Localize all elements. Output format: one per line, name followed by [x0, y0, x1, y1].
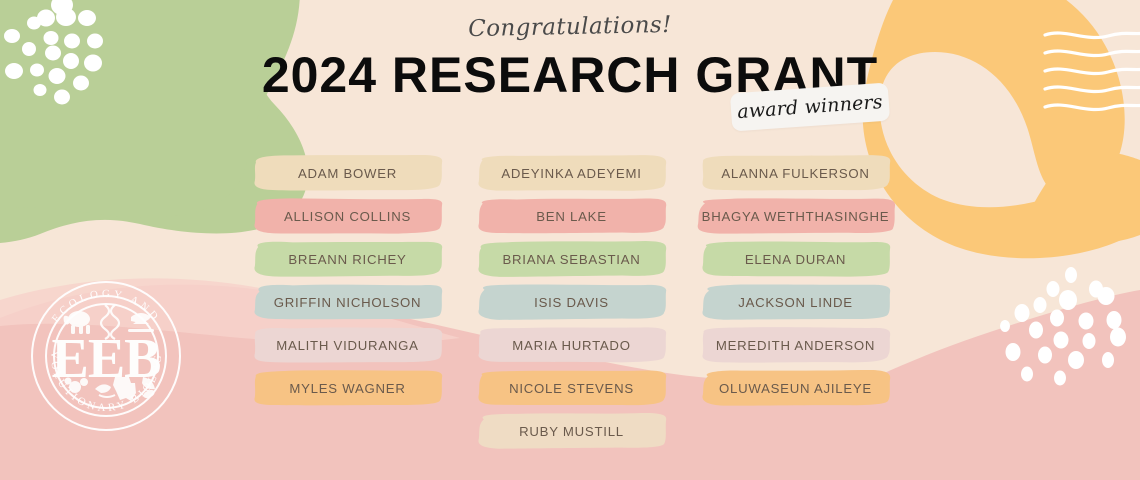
winner-pill: BREANN RICHEY [250, 241, 445, 277]
winner-name: BREANN RICHEY [288, 252, 406, 267]
winner-pill: NICOLE STEVENS [474, 370, 669, 406]
winner-name: ALLISON COLLINS [284, 209, 411, 224]
winner-column-2: ADEYINKA ADEYEMIBEN LAKEBRIANA SEBASTIAN… [474, 155, 669, 456]
winner-column-3: ALANNA FULKERSONBHAGYA WETHTHASINGHEELEN… [698, 155, 893, 413]
winner-name: OLUWASEUN AJILEYE [719, 381, 872, 396]
logo-center-text: EEB [51, 328, 160, 390]
winner-pill: JACKSON LINDE [698, 284, 893, 320]
winner-pill: MARIA HURTADO [474, 327, 669, 363]
winner-pill: RUBY MUSTILL [474, 413, 669, 449]
winner-column-1: ADAM BOWERALLISON COLLINSBREANN RICHEYGR… [250, 155, 445, 413]
winner-name: BHAGYA WETHTHASINGHE [702, 209, 890, 224]
winner-name: ISIS DAVIS [534, 295, 609, 310]
winner-name: MALITH VIDURANGA [276, 338, 418, 353]
winner-name: GRIFFIN NICHOLSON [274, 295, 422, 310]
winner-pill: ADEYINKA ADEYEMI [474, 155, 669, 191]
winner-name: BRIANA SEBASTIAN [502, 252, 640, 267]
winner-name: ALANNA FULKERSON [721, 166, 869, 181]
winner-pill: MYLES WAGNER [250, 370, 445, 406]
winner-name: JACKSON LINDE [738, 295, 853, 310]
winner-pill: GRIFFIN NICHOLSON [250, 284, 445, 320]
winner-pill: BEN LAKE [474, 198, 669, 234]
winner-name: RUBY MUSTILL [519, 424, 624, 439]
winner-name: BEN LAKE [536, 209, 607, 224]
winner-pill: MEREDITH ANDERSON [698, 327, 893, 363]
winner-pill: MALITH VIDURANGA [250, 327, 445, 363]
winner-pill: ALLISON COLLINS [250, 198, 445, 234]
winner-name: ELENA DURAN [745, 252, 846, 267]
winner-pill: ADAM BOWER [250, 155, 445, 191]
winner-name: ADEYINKA ADEYEMI [501, 166, 641, 181]
winner-name: MEREDITH ANDERSON [716, 338, 875, 353]
winner-name: MARIA HURTADO [512, 338, 630, 353]
winner-pill: ISIS DAVIS [474, 284, 669, 320]
winner-pill: BRIANA SEBASTIAN [474, 241, 669, 277]
poster-canvas: Congratulations! 2024 RESEARCH GRANT awa… [0, 0, 1140, 480]
winner-pill: ELENA DURAN [698, 241, 893, 277]
eeb-logo: ECOLOGY AND EVOLUTIONARY BIOLOGY [27, 277, 185, 435]
winner-name: MYLES WAGNER [289, 381, 405, 396]
winner-pill: BHAGYA WETHTHASINGHE [693, 198, 898, 234]
winner-name: NICOLE STEVENS [509, 381, 634, 396]
winner-name: ADAM BOWER [298, 166, 397, 181]
winner-pill: ALANNA FULKERSON [698, 155, 893, 191]
winner-pill: OLUWASEUN AJILEYE [698, 370, 893, 406]
